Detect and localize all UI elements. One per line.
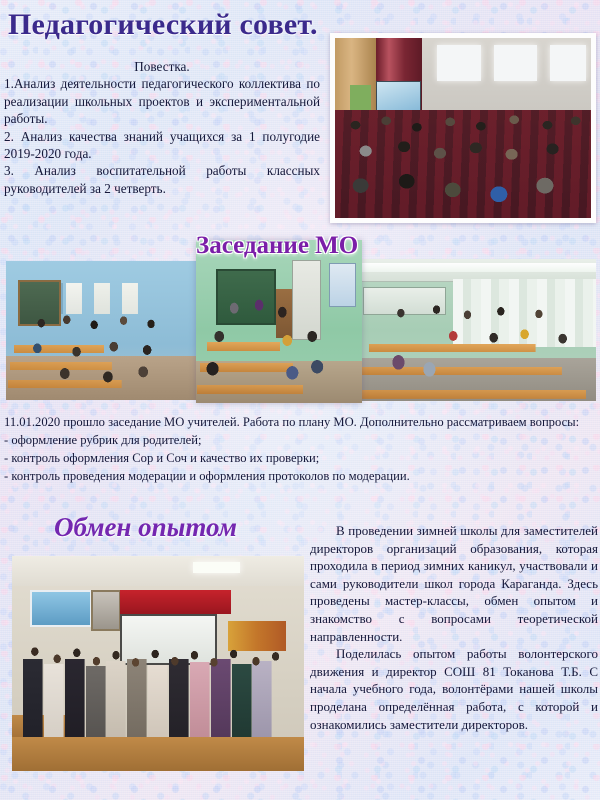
projection-screen <box>376 81 422 112</box>
hall-window <box>550 45 586 81</box>
wall-portrait <box>91 590 121 631</box>
classroom-wide-scene <box>358 259 596 401</box>
seated-teachers <box>358 299 596 387</box>
agenda-heading: Повестка. <box>4 58 320 75</box>
information-board <box>30 590 92 626</box>
audience-crowd <box>335 110 591 218</box>
stage-banner <box>350 85 370 110</box>
classroom-green-scene <box>196 240 362 403</box>
section-heading-exchange: Обмен опытом <box>54 512 237 543</box>
front-table <box>12 737 304 771</box>
meeting-participants <box>196 292 362 393</box>
page-title: Педагогический совет. <box>8 8 318 42</box>
mo-text-block: 11.01.2020 прошло заседание МО учителей.… <box>4 413 596 485</box>
exchange-text-block: В проведении зимней школы для заместител… <box>310 522 598 733</box>
agenda-item-1: 1.Анализ деятельности педагогического ко… <box>4 75 320 127</box>
assembly-hall-scene <box>335 38 591 218</box>
agenda-item-3: 3. Анализ воспитательной работы классных… <box>4 162 320 197</box>
teachers-group-photo <box>12 556 304 771</box>
section-heading-mo: Заседание МО <box>196 232 358 260</box>
mo-bullet-2: - контроль оформления Сор и Соч и качест… <box>4 449 596 467</box>
ceiling-lights <box>358 263 596 272</box>
classroom-blue-photo <box>6 261 202 400</box>
exchange-paragraph-2: Поделилась опытом работы волонтерского д… <box>310 645 598 733</box>
group-photo-scene <box>12 556 304 771</box>
mo-intro: 11.01.2020 прошло заседание МО учителей.… <box>4 413 596 431</box>
poster-page: Педагогический совет. Повестка. 1.Анализ… <box>0 0 600 800</box>
classroom-blue-scene <box>6 261 202 400</box>
mo-bullet-1: - оформление рубрик для родителей; <box>4 431 596 449</box>
red-banner <box>120 590 231 614</box>
hall-window <box>437 45 481 81</box>
ceiling-light <box>193 562 240 573</box>
classroom-wide-photo <box>358 259 596 401</box>
agenda-block: Повестка. 1.Анализ деятельности педагоги… <box>4 58 320 197</box>
hall-window <box>494 45 538 81</box>
seated-teachers <box>6 308 202 391</box>
agenda-item-2: 2. Анализ качества знаний учащихся за 1 … <box>4 128 320 163</box>
ceiling <box>12 556 304 586</box>
exchange-paragraph-1: В проведении зимней школы для заместител… <box>310 522 598 645</box>
assembly-hall-photo <box>330 33 596 223</box>
mo-bullet-3: - контроль проведения модерации и оформл… <box>4 467 596 485</box>
classroom-green-photo <box>196 240 362 403</box>
